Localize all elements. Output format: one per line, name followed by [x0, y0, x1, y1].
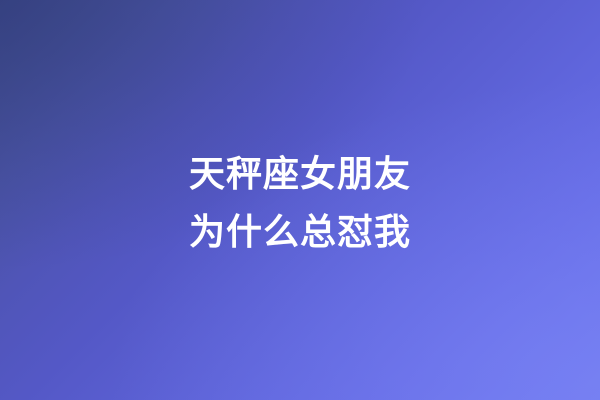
headline-line-1: 天秤座女朋友 [0, 146, 600, 204]
poster-canvas: 天秤座女朋友 为什么总怼我 [0, 0, 600, 400]
headline-block: 天秤座女朋友 为什么总怼我 [0, 146, 600, 262]
headline-line-2: 为什么总怼我 [0, 204, 600, 262]
